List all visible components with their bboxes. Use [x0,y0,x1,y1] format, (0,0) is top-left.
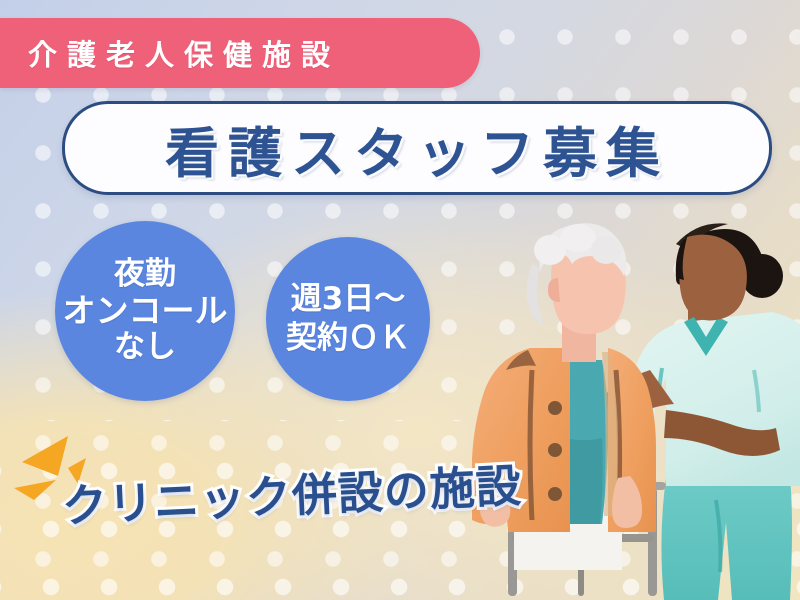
badge-no-night-shift: 夜勤 オンコール なし [55,221,235,401]
recruitment-banner: 介護老人保健施設 看護スタッフ募集 夜勤 オンコール なし 週3日〜 契約ＯＫ … [0,0,800,600]
facility-type-label: 介護老人保健施設 [0,32,340,74]
catch-copy: クリニック併設の施設 [61,449,523,535]
badge-three-days-contract: 週3日〜 契約ＯＫ [266,237,430,401]
badge-1-line-3: なし [114,330,176,365]
page-title: 看護スタッフ募集 [165,109,669,188]
badge-1-line-2: オンコール [63,293,228,330]
facility-type-tag: 介護老人保健施設 [0,18,480,88]
main-title-pill: 看護スタッフ募集 [62,101,772,195]
caregiver-illustration [470,220,800,600]
badge-2-line-2: 契約ＯＫ [286,321,410,356]
badge-2-line-1: 週3日〜 [291,282,406,317]
badge-1-line-1: 夜勤 [114,257,176,292]
